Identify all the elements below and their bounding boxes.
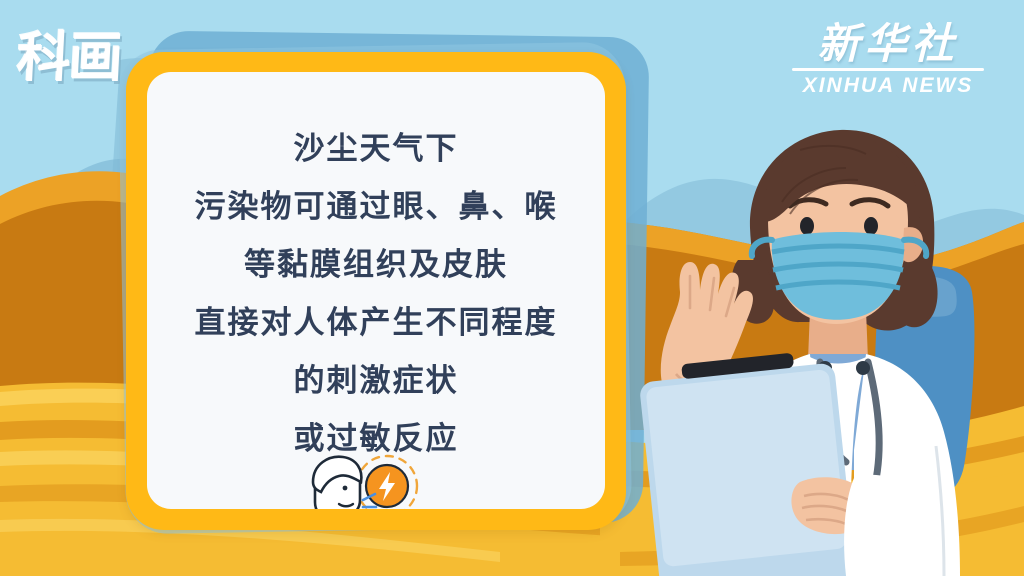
card-text-line-3: 等黏膜组织及皮肤: [147, 236, 605, 294]
infographic-poster: 科画 新华社 XINHUA NEWS 沙尘天气下 污染物可通过眼、鼻、喉 等黏膜…: [0, 0, 1024, 576]
info-card-inner: 沙尘天气下 污染物可通过眼、鼻、喉 等黏膜组织及皮肤 直接对人体产生不同程度 的…: [147, 72, 605, 509]
info-card: 沙尘天气下 污染物可通过眼、鼻、喉 等黏膜组织及皮肤 直接对人体产生不同程度 的…: [126, 52, 626, 530]
xinhua-logo-chinese: 新华社: [788, 22, 988, 66]
card-text-block: 沙尘天气下 污染物可通过眼、鼻、喉 等黏膜组织及皮肤 直接对人体产生不同程度 的…: [147, 120, 605, 468]
card-text-line-4: 直接对人体产生不同程度: [147, 294, 605, 352]
stethoscope-ear-right: [856, 361, 870, 375]
card-text-line-1: 沙尘天气下: [147, 120, 605, 178]
doctor-illustration: [640, 110, 1024, 576]
card-text-line-5: 的刺激症状: [147, 352, 605, 410]
doctor-eye-left: [800, 217, 814, 235]
xinhua-logo-english: XINHUA NEWS: [788, 74, 988, 98]
doctor-eye-right: [864, 217, 878, 235]
card-text-line-2: 污染物可通过眼、鼻、喉: [147, 178, 605, 236]
kehua-logo: 科画: [14, 12, 124, 104]
person-eye: [343, 486, 348, 491]
kehua-logo-text: 科画: [16, 31, 123, 85]
xinhua-logo-divider: [792, 68, 984, 71]
clipboard: [640, 348, 858, 576]
xinhua-news-logo: 新华社 XINHUA NEWS: [788, 22, 988, 98]
coughing-person-icon: [295, 444, 425, 509]
